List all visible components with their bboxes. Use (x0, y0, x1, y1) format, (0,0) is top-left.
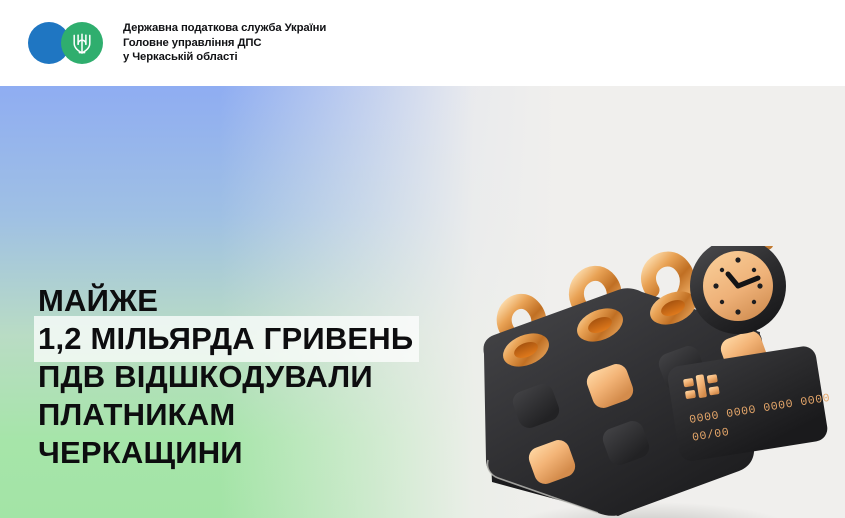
drop-shadow (510, 502, 790, 518)
illustration-calendar-card-stopwatch: 0000 0000 0000 0000 00/00 (470, 246, 830, 518)
poster-canvas: Державна податкова служба України Головн… (0, 0, 845, 518)
org-line-2: Головне управління ДПС (123, 36, 326, 51)
org-line-1: Державна податкова служба України (123, 21, 326, 36)
headline-line-5: ЧЕРКАЩИНИ (38, 434, 508, 472)
org-line-3: у Черкаській області (123, 50, 326, 65)
headline-line-2-highlighted: 1,2 МІЛЬЯРДА ГРИВЕНЬ (38, 320, 415, 358)
poster-body: МАЙЖЕ 1,2 МІЛЬЯРДА ГРИВЕНЬ ПДВ ВІДШКОДУВ… (0, 86, 845, 518)
header-bar: Державна податкова служба України Головн… (0, 0, 845, 86)
page-title: МАЙЖЕ 1,2 МІЛЬЯРДА ГРИВЕНЬ ПДВ ВІДШКОДУВ… (38, 282, 508, 472)
headline-line-3: ПДВ ВІДШКОДУВАЛИ (38, 358, 508, 396)
headline-line-4: ПЛАТНИКАМ (38, 396, 508, 434)
headline-line-1: МАЙЖЕ (38, 282, 508, 320)
organization-name: Державна податкова служба України Головн… (123, 21, 326, 65)
organization-logo (28, 22, 110, 64)
ukraine-trident-icon (71, 32, 93, 55)
